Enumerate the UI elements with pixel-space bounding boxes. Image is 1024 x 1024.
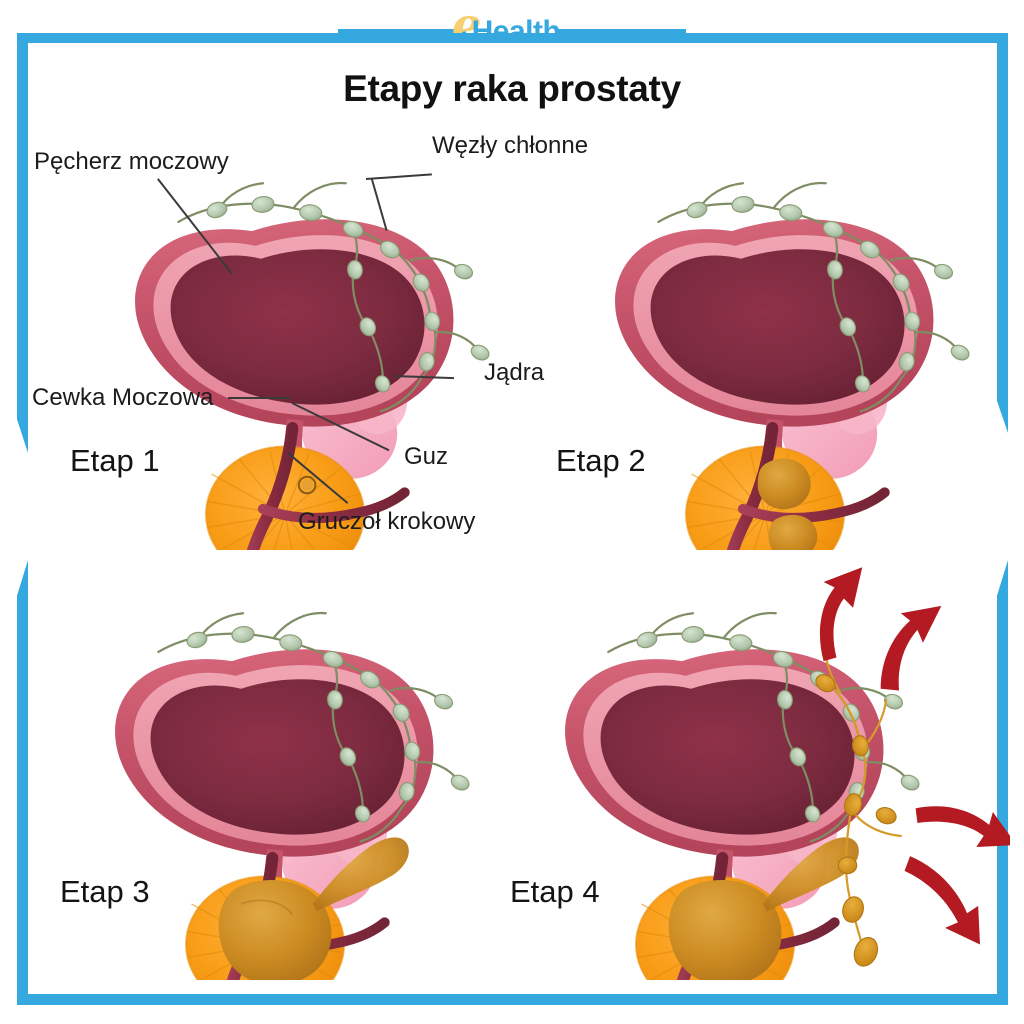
stage-label-1: Etap 1 [70, 443, 160, 479]
stage-label-2: Etap 2 [556, 443, 646, 479]
leader-urethra [228, 397, 290, 399]
frame-border-left-lower [17, 560, 28, 1005]
stage-label-4: Etap 4 [510, 874, 600, 910]
stage-2-illustration [540, 150, 1000, 550]
frame-border-bottom [17, 994, 1008, 1005]
label-urethra: Cewka Moczowa [32, 384, 213, 412]
label-testicles: Jądra [484, 359, 544, 387]
frame-border-top [17, 33, 1008, 43]
stage-4-illustration [490, 540, 1010, 980]
stage-3-illustration [40, 580, 500, 980]
stage-1-illustration [60, 150, 520, 550]
label-lymph-nodes: Węzły chłonne [432, 132, 588, 160]
label-prostate: Gruczoł krokowy [298, 508, 475, 536]
label-tumor: Guz [404, 443, 448, 471]
logo-wordmark: Health [472, 15, 561, 49]
brand-logo: e Health [0, 2, 1024, 54]
stage-label-3: Etap 3 [60, 874, 150, 910]
infographic-page: e Health Etapy raka prostaty [0, 0, 1024, 1024]
label-bladder: Pęcherz moczowy [34, 148, 229, 176]
page-title: Etapy raka prostaty [0, 68, 1024, 110]
